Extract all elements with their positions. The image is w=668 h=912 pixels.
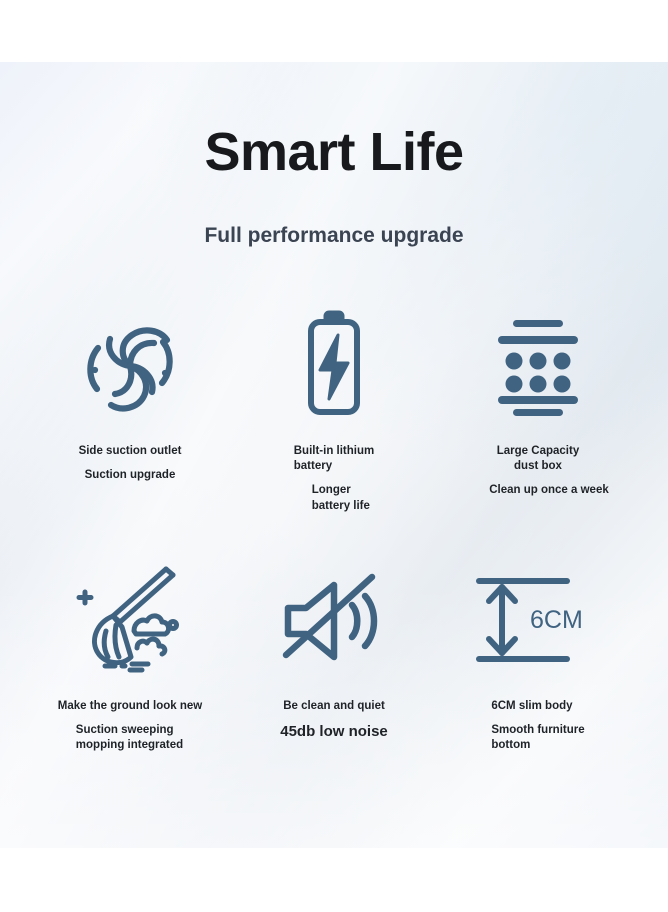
cyclone-swirl-icon [74,302,186,430]
page-subtitle: Full performance upgrade [0,225,668,246]
caption-line-a: Make the ground look new [58,700,202,712]
caption-line-a: Large Capacity dust box [497,445,579,472]
feature-slim-body: 6CM 6CM slim body Smooth furniture botto… [436,557,640,754]
page-title: Smart Life [0,125,668,179]
feature-low-noise: Be clean and quiet 45db low noise [232,557,436,754]
caption-line-a: Be clean and quiet [283,700,385,712]
height-measure-icon: 6CM [473,557,603,685]
caption-line-b: Longer battery life [294,483,374,513]
banner-background: Smart Life Full performance upgrade [0,62,668,848]
feature-lithium-battery: Built-in lithium battery Longer battery … [232,302,436,557]
caption-line-a: Side suction outlet [79,445,182,457]
feature-caption: 6CM slim body Smooth furniture bottom [491,699,584,754]
mop-sparkle-icon [70,557,190,685]
caption-line-a: 6CM slim body [491,700,572,712]
feature-grid: Side suction outlet Suction upgrade [28,302,640,754]
caption-line-b: 45db low noise [280,722,388,742]
feature-caption: Built-in lithium battery Longer battery … [294,444,374,514]
product-banner-page: Smart Life Full performance upgrade [0,0,668,912]
battery-lightning-icon [284,302,384,430]
feature-caption: Make the ground look new Suction sweepin… [58,699,202,754]
feature-caption: Be clean and quiet 45db low noise [280,699,388,742]
caption-line-b: Smooth furniture bottom [491,723,584,753]
feature-row-1: Side suction outlet Suction upgrade [28,302,640,557]
caption-line-a: Built-in lithium battery [294,445,374,472]
caption-line-b: Suction upgrade [79,468,182,483]
feature-caption: Large Capacity dust box Clean up once a … [467,444,609,499]
caption-line-b: Suction sweeping mopping integrated [58,723,202,753]
feature-caption: Side suction outlet Suction upgrade [79,444,182,483]
caption-line-b: Clean up once a week [467,483,609,498]
feature-side-suction-outlet: Side suction outlet Suction upgrade [28,302,232,557]
dust-box-icon [483,302,593,430]
banner-content: Smart Life Full performance upgrade [0,62,668,848]
feature-dust-box: Large Capacity dust box Clean up once a … [436,302,640,557]
height-measure-label: 6CM [530,606,583,634]
speaker-mute-icon [280,557,388,685]
feature-mop-sweeping: Make the ground look new Suction sweepin… [28,557,232,754]
feature-row-2: Make the ground look new Suction sweepin… [28,557,640,754]
